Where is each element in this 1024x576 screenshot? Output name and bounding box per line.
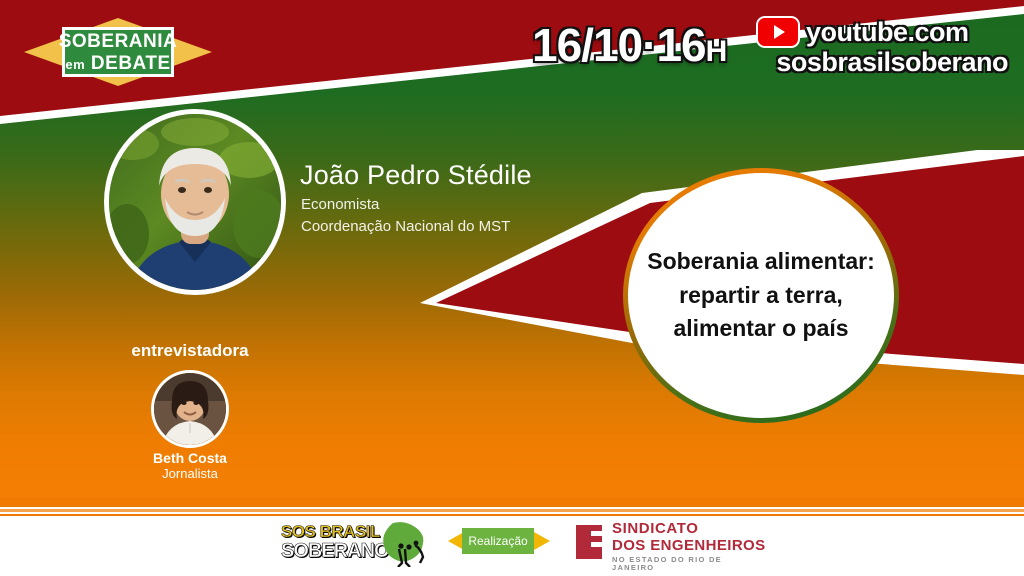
interviewer-label: entrevistadora xyxy=(0,341,380,361)
brand-logo: SOBERANIA em DEBATE xyxy=(22,16,214,88)
realizacao-label: Realização xyxy=(462,528,534,554)
speaker-role: Economista Coordenação Nacional do MST xyxy=(301,194,510,238)
brand-line-2-small: em xyxy=(65,57,85,72)
brand-line-2-main: DEBATE xyxy=(91,53,171,74)
arrow-right-icon xyxy=(534,532,550,550)
title-text: Soberania alimentar: repartir a terra, a… xyxy=(629,245,893,345)
realizacao-badge: Realização xyxy=(448,528,548,554)
title-line-2: repartir a terra, xyxy=(647,279,875,312)
sos-brasil-soberano-logo: SOS BRASIL SOBERANO xyxy=(281,519,431,567)
date-separator: · xyxy=(642,19,656,71)
sindicato-line-1: SINDICATO xyxy=(612,521,766,538)
speaker-name: João Pedro Stédile xyxy=(300,160,532,191)
sindicato-mark-icon xyxy=(570,521,608,563)
speaker-portrait-illustration xyxy=(109,114,281,290)
title-line-1: Soberania alimentar: xyxy=(647,245,875,278)
event-datetime: 16/10·16H xyxy=(532,22,726,68)
promo-poster: SOBERANIA em DEBATE 16/10·16H youtube.co… xyxy=(0,0,1024,576)
brand-logo-text: SOBERANIA em DEBATE xyxy=(22,16,214,88)
speaker-role-line-2: Coordenação Nacional do MST xyxy=(301,216,510,238)
youtube-play-icon xyxy=(758,18,798,46)
sindicato-line-2: DOS ENGENHEIROS xyxy=(612,538,766,555)
orange-stripe-divider xyxy=(0,497,1024,519)
event-time-unit: H xyxy=(706,35,727,68)
event-time: 16 xyxy=(656,19,705,71)
sos-logo-line-2: SOBERANO xyxy=(281,541,389,561)
brazil-map-icon xyxy=(375,519,431,567)
title-bubble: Soberania alimentar: repartir a terra, a… xyxy=(628,173,894,418)
sindicato-text: SINDICATO DOS ENGENHEIROS NO ESTADO DO R… xyxy=(612,521,766,573)
sindicato-line-3: NO ESTADO DO RIO DE JANEIRO xyxy=(612,556,766,573)
event-date: 16/10 xyxy=(532,19,642,71)
interviewer-portrait-illustration xyxy=(154,373,226,445)
youtube-domain: youtube.com xyxy=(806,18,969,46)
sindicato-engenheiros-logo: SINDICATO DOS ENGENHEIROS NO ESTADO DO R… xyxy=(566,519,766,565)
speaker-role-line-1: Economista xyxy=(301,194,510,216)
youtube-channel-block[interactable]: youtube.com sosbrasilsoberano xyxy=(758,18,1008,77)
interviewer-role: Jornalista xyxy=(0,466,380,481)
brand-line-1: SOBERANIA xyxy=(59,32,178,51)
brand-line-2: em DEBATE xyxy=(65,54,170,73)
interviewer-name: Beth Costa xyxy=(0,450,380,466)
speaker-photo xyxy=(104,109,286,295)
title-line-3: alimentar o país xyxy=(647,312,875,345)
youtube-handle: sosbrasilsoberano xyxy=(758,48,1008,76)
interviewer-photo xyxy=(151,370,229,448)
sos-logo-line-1: SOS BRASIL xyxy=(281,523,389,540)
sos-logo-text: SOS BRASIL SOBERANO xyxy=(281,523,389,561)
